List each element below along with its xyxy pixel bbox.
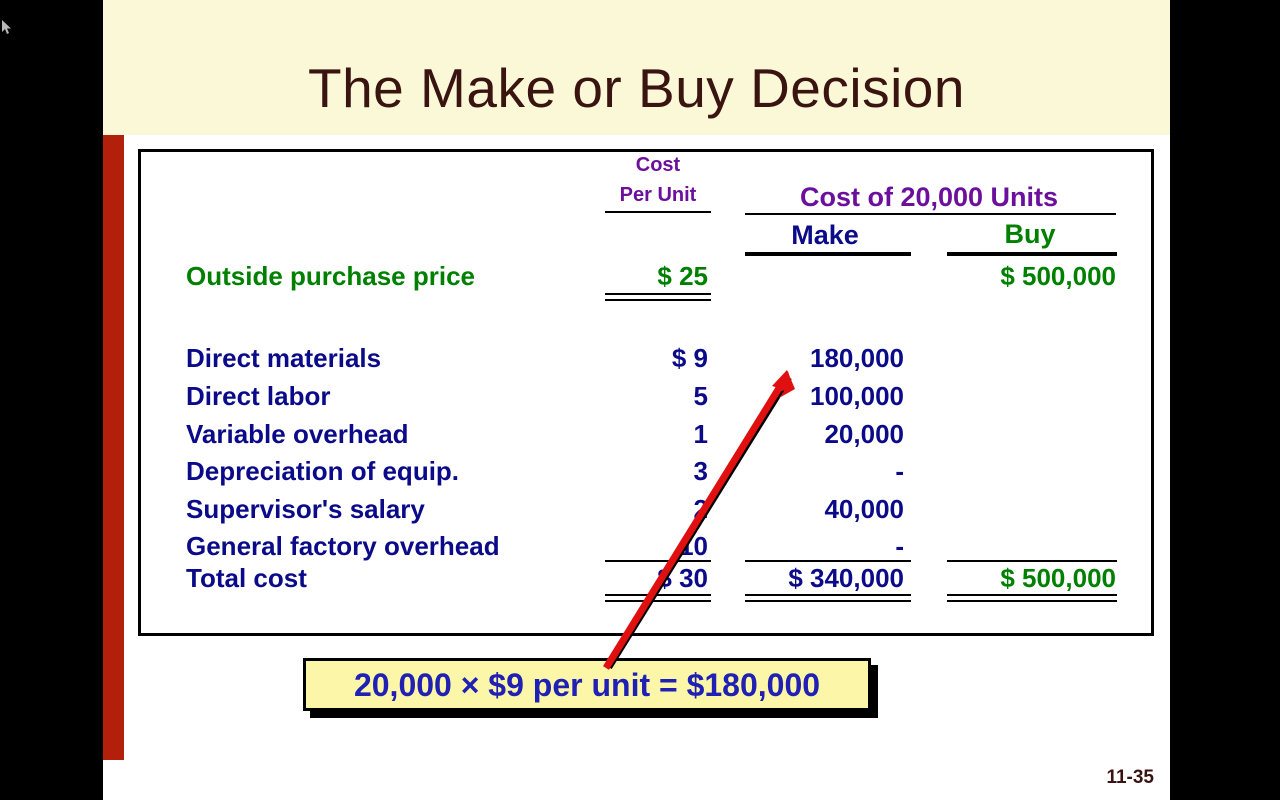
row-label-outside-purchase-price: Outside purchase price <box>186 263 475 289</box>
cell-total-buy: $ 500,000 <box>940 565 1116 591</box>
rule-buy-header <box>947 252 1117 256</box>
rule-total-above-make <box>745 560 911 562</box>
rule-total-above-buy <box>947 560 1117 562</box>
rule-total-under-per-unit-1 <box>605 594 711 596</box>
header-per-unit: Per Unit <box>600 185 716 205</box>
row-label-total-cost: Total cost <box>186 565 307 591</box>
row-label-depreciation-of-equip: Depreciation of equip. <box>186 458 459 484</box>
cell-general-factory-overhead-make: - <box>742 533 904 559</box>
rule-total-under-per-unit-2 <box>605 600 711 602</box>
cell-outside-purchase-per-unit: $ 25 <box>600 263 708 289</box>
slide-root: The Make or Buy Decision Cost Per Unit C… <box>0 0 1280 800</box>
rule-total-under-buy-1 <box>947 594 1117 596</box>
cell-total-per-unit: $ 30 <box>600 565 708 591</box>
rule-total-under-make-2 <box>745 600 911 602</box>
cell-depreciation-per-unit: 3 <box>600 458 708 484</box>
cell-direct-materials-make: 180,000 <box>742 345 904 371</box>
page-number: 11-35 <box>1060 767 1154 789</box>
header-cost-of-units: Cost of 20,000 Units <box>742 184 1116 211</box>
rule-per-unit-header <box>605 211 711 213</box>
rule-make-header <box>745 252 911 256</box>
cell-direct-labor-make: 100,000 <box>742 383 904 409</box>
cell-direct-materials-per-unit: $ 9 <box>600 345 708 371</box>
callout-text: 20,000 × $9 per unit = $180,000 <box>303 668 871 702</box>
rule-cost-of-units-header <box>745 213 1116 215</box>
rule-total-under-make-1 <box>745 594 911 596</box>
header-buy: Buy <box>944 221 1116 248</box>
cell-outside-purchase-buy: $ 500,000 <box>940 263 1116 289</box>
cell-supervisors-salary-per-unit: 2 <box>600 496 708 522</box>
rule-outside-purchase-under-2 <box>605 299 711 301</box>
cell-variable-overhead-make: 20,000 <box>742 421 904 447</box>
header-make: Make <box>742 222 908 249</box>
cell-general-factory-overhead-per-unit: 10 <box>600 533 708 559</box>
cell-total-make: $ 340,000 <box>742 565 904 591</box>
cell-direct-labor-per-unit: 5 <box>600 383 708 409</box>
cell-supervisors-salary-make: 40,000 <box>742 496 904 522</box>
rule-total-above-per-unit <box>605 560 711 562</box>
row-label-variable-overhead: Variable overhead <box>186 421 409 447</box>
cell-variable-overhead-per-unit: 1 <box>600 421 708 447</box>
row-label-direct-labor: Direct labor <box>186 383 331 409</box>
row-label-direct-materials: Direct materials <box>186 345 381 371</box>
row-label-general-factory-overhead: General factory overhead <box>186 533 500 559</box>
rule-outside-purchase-under-1 <box>605 293 711 295</box>
cell-depreciation-make: - <box>742 458 904 484</box>
row-label-supervisors-salary: Supervisor's salary <box>186 496 425 522</box>
header-cost: Cost <box>600 155 716 175</box>
rule-total-under-buy-2 <box>947 600 1117 602</box>
